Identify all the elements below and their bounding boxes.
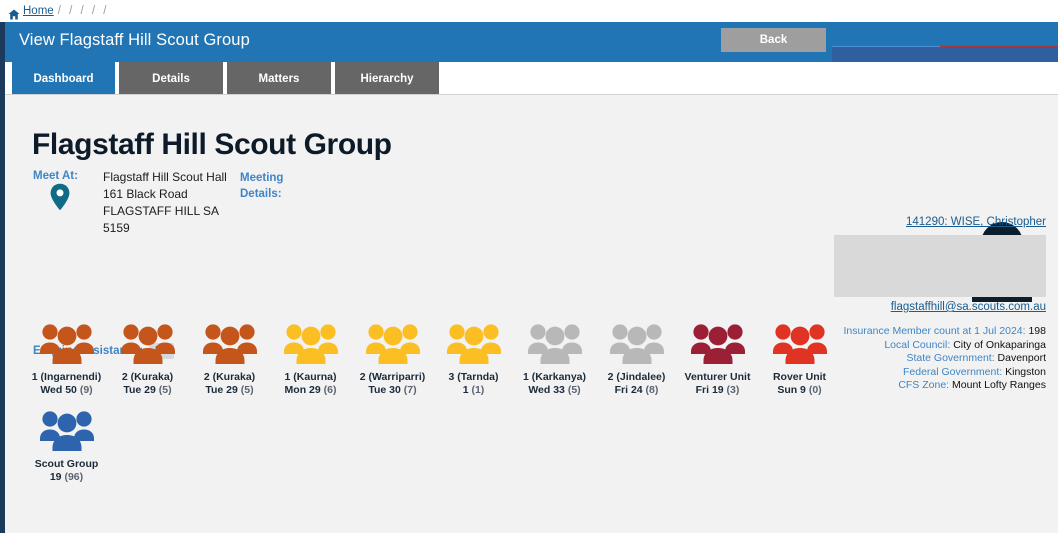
unit-tile-stats: Fri 19 (3) bbox=[677, 384, 758, 397]
address-line-3: FLAGSTAFF HILL SA bbox=[103, 203, 227, 220]
info-key: State Government: bbox=[906, 352, 994, 364]
unit-tile-name: 1 (Karkanya) bbox=[514, 371, 595, 384]
group-people-icon bbox=[39, 410, 95, 452]
unit-tile-stats: Wed 33 (5) bbox=[514, 384, 595, 397]
group-people-icon bbox=[202, 323, 258, 365]
unit-tile[interactable]: 2 (Kuraka)Tue 29 (5) bbox=[189, 323, 270, 397]
info-value: 198 bbox=[1028, 325, 1046, 337]
unit-stat-count: (9) bbox=[80, 384, 93, 396]
unit-tile[interactable]: Venturer UnitFri 19 (3) bbox=[677, 323, 758, 397]
email-link[interactable]: flagstaffhill@sa.scouts.com.au bbox=[834, 301, 1046, 313]
unit-tile-stats: Mon 29 (6) bbox=[270, 384, 351, 397]
unit-stat-count: (5) bbox=[159, 384, 172, 396]
unit-stat-count: (1) bbox=[471, 384, 484, 396]
tab-hierarchy[interactable]: Hierarchy bbox=[335, 62, 439, 95]
info-key: Federal Government: bbox=[903, 366, 1002, 378]
info-key: Local Council: bbox=[884, 339, 950, 351]
unit-tile-name: Rover Unit bbox=[759, 371, 840, 384]
group-people-icon bbox=[365, 323, 421, 365]
unit-stat-count: (96) bbox=[64, 471, 83, 483]
unit-stat-count: (5) bbox=[568, 384, 581, 396]
unit-tile[interactable]: 2 (Warriparri)Tue 30 (7) bbox=[352, 323, 433, 397]
group-people-icon bbox=[772, 323, 828, 365]
page-title: Flagstaff Hill Scout Group bbox=[32, 128, 392, 162]
group-people-icon bbox=[120, 323, 176, 365]
unit-stat-main: Wed 50 bbox=[40, 384, 80, 396]
unit-tile-stats: Sun 9 (0) bbox=[759, 384, 840, 397]
address-line-4: 5159 bbox=[103, 220, 227, 237]
tab-strip: Dashboard Details Matters Hierarchy bbox=[5, 62, 1058, 95]
unit-tile-name: 2 (Jindalee) bbox=[596, 371, 677, 384]
address-line-2: 161 Black Road bbox=[103, 186, 227, 203]
breadcrumb-separators: / / / / / bbox=[58, 5, 109, 17]
unit-tile-name: 2 (Kuraka) bbox=[189, 371, 270, 384]
member-link[interactable]: 141290: WISE, Christopher bbox=[834, 216, 1046, 228]
page-root: Home / / / / / View Flagstaff Hill Scout… bbox=[0, 0, 1058, 533]
unit-stat-count: (0) bbox=[809, 384, 822, 396]
breadcrumb: Home / / / / / bbox=[0, 0, 1058, 22]
unit-tile-stats: 1 (1) bbox=[433, 384, 514, 397]
unit-tile[interactable]: 1 (Ingarnendi)Wed 50 (9) bbox=[26, 323, 107, 397]
group-people-icon bbox=[527, 323, 583, 365]
tab-details[interactable]: Details bbox=[119, 62, 223, 95]
unit-stat-count: (7) bbox=[404, 384, 417, 396]
meet-at-label: Meet At: bbox=[33, 170, 78, 182]
breadcrumb-home-link[interactable]: Home bbox=[23, 5, 54, 17]
unit-tile-stats: Tue 29 (5) bbox=[107, 384, 188, 397]
meeting-details-label: MeetingDetails: bbox=[240, 170, 283, 202]
meeting-details-box bbox=[834, 235, 1046, 297]
tab-dashboard[interactable]: Dashboard bbox=[12, 62, 115, 95]
unit-tile-stats: 19 (96) bbox=[26, 471, 107, 484]
unit-stat-count: (3) bbox=[727, 384, 740, 396]
unit-stat-count: (5) bbox=[241, 384, 254, 396]
meet-at-address: Flagstaff Hill Scout Hall 161 Black Road… bbox=[103, 169, 227, 237]
unit-tile[interactable]: 3 (Tarnda)1 (1) bbox=[433, 323, 514, 397]
map-pin-icon bbox=[49, 183, 71, 211]
unit-tile-stats: Tue 29 (5) bbox=[189, 384, 270, 397]
info-key: Insurance Member count at 1 Jul 2024: bbox=[843, 325, 1025, 337]
group-people-icon bbox=[283, 323, 339, 365]
unit-tile[interactable]: Rover UnitSun 9 (0) bbox=[759, 323, 840, 397]
unit-tile[interactable]: 1 (Kaurna)Mon 29 (6) bbox=[270, 323, 351, 397]
info-value: Davenport bbox=[998, 352, 1046, 364]
unit-stat-main: Tue 29 bbox=[123, 384, 158, 396]
unit-stat-main: Tue 30 bbox=[368, 384, 403, 396]
unit-stat-main: 19 bbox=[50, 471, 65, 483]
unit-stat-main: Wed 33 bbox=[528, 384, 568, 396]
unit-stat-main: Tue 29 bbox=[205, 384, 240, 396]
page-header: View Flagstaff Hill Scout Group Back bbox=[5, 22, 1058, 62]
unit-stat-main: Mon 29 bbox=[285, 384, 324, 396]
unit-tile-name: Scout Group bbox=[26, 458, 107, 471]
unit-tile-name: 3 (Tarnda) bbox=[433, 371, 514, 384]
group-people-icon bbox=[690, 323, 746, 365]
group-people-icon bbox=[446, 323, 502, 365]
unit-tile-stats: Fri 24 (8) bbox=[596, 384, 677, 397]
back-button[interactable]: Back bbox=[721, 28, 826, 52]
tab-matters[interactable]: Matters bbox=[227, 62, 331, 95]
info-key: CFS Zone: bbox=[898, 379, 949, 391]
unit-tile[interactable]: 2 (Kuraka)Tue 29 (5) bbox=[107, 323, 188, 397]
unit-tile[interactable]: 2 (Jindalee)Fri 24 (8) bbox=[596, 323, 677, 397]
info-value: City of Onkaparinga bbox=[953, 339, 1046, 351]
unit-stat-main: Sun 9 bbox=[777, 384, 809, 396]
unit-stat-main: Fri 19 bbox=[696, 384, 727, 396]
unit-tile[interactable]: 1 (Karkanya)Wed 33 (5) bbox=[514, 323, 595, 397]
page-title-header: View Flagstaff Hill Scout Group bbox=[19, 31, 250, 50]
unit-stat-count: (8) bbox=[646, 384, 659, 396]
unit-tile-name: 2 (Kuraka) bbox=[107, 371, 188, 384]
info-value: Mount Lofty Ranges bbox=[952, 379, 1046, 391]
unit-tile-name: 2 (Warriparri) bbox=[352, 371, 433, 384]
unit-stat-main: Fri 24 bbox=[615, 384, 646, 396]
unit-tile[interactable]: Scout Group19 (96) bbox=[26, 410, 107, 484]
address-line-1: Flagstaff Hill Scout Hall bbox=[103, 169, 227, 186]
unit-tile-name: Venturer Unit bbox=[677, 371, 758, 384]
home-icon bbox=[8, 7, 20, 18]
dashboard-panel: Flagstaff Hill Scout Group Meet At: Flag… bbox=[5, 95, 1058, 533]
unit-tile-name: 1 (Ingarnendi) bbox=[26, 371, 107, 384]
unit-stat-count: (6) bbox=[324, 384, 337, 396]
unit-tile-name: 1 (Kaurna) bbox=[270, 371, 351, 384]
group-people-icon bbox=[609, 323, 665, 365]
unit-tile-stats: Wed 50 (9) bbox=[26, 384, 107, 397]
unit-tile-stats: Tue 30 (7) bbox=[352, 384, 433, 397]
group-people-icon bbox=[39, 323, 95, 365]
info-value: Kingston bbox=[1005, 366, 1046, 378]
